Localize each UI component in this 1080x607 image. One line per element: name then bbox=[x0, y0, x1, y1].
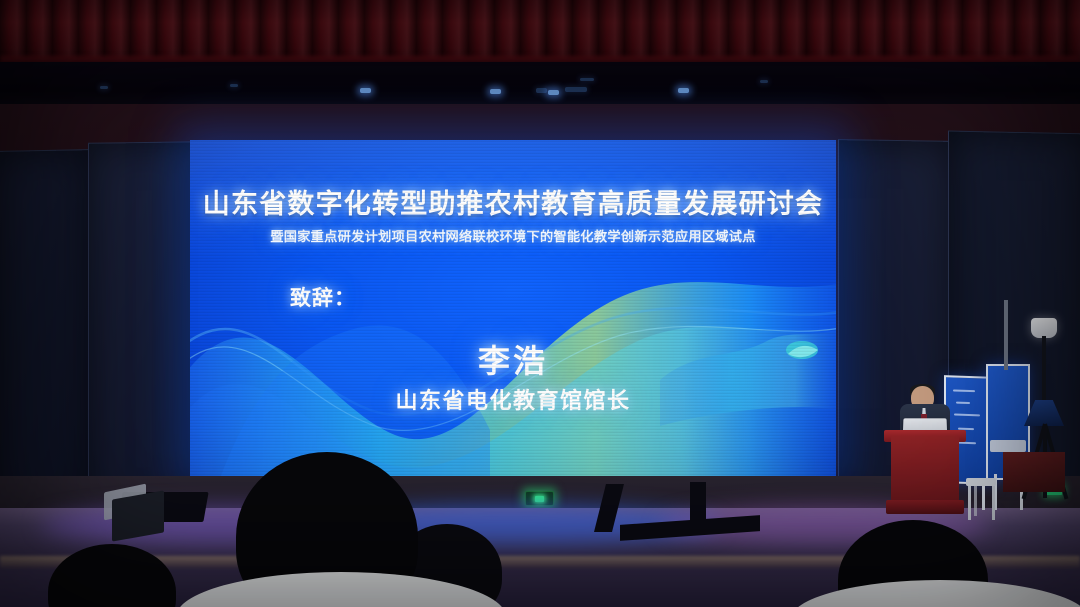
exit-sign-icon bbox=[525, 491, 554, 506]
beam-light bbox=[580, 78, 594, 81]
speaker-name: 李浩 bbox=[190, 336, 836, 382]
flip-chart-mast bbox=[1004, 300, 1008, 370]
stool-leg bbox=[974, 486, 977, 516]
stage-panel bbox=[88, 141, 200, 517]
side-table bbox=[1003, 452, 1065, 492]
led-presentation-screen: 山东省数字化转型助推农村教育高质量发展研讨会 暨国家重点研发计划项目农村网络联校… bbox=[190, 140, 836, 478]
beam-light bbox=[536, 88, 547, 93]
presentation-title: 山东省数字化转型助推农村教育高质量发展研讨会 bbox=[190, 182, 836, 221]
stool-leg bbox=[992, 486, 995, 520]
beam-light bbox=[760, 80, 768, 83]
beam-light bbox=[678, 88, 689, 93]
podium-base bbox=[886, 500, 964, 514]
beam-light bbox=[548, 90, 559, 95]
beam-light bbox=[490, 89, 501, 94]
stool bbox=[966, 478, 996, 486]
equipment-case bbox=[990, 440, 1026, 452]
screen-text-block: 山东省数字化转型助推农村教育高质量发展研讨会 暨国家重点研发计划项目农村网络联校… bbox=[190, 140, 836, 478]
speaker-role: 山东省电化教育馆馆长 bbox=[190, 383, 836, 415]
beam-light bbox=[100, 86, 108, 89]
presentation-subtitle: 暨国家重点研发计划项目农村网络联校环境下的智能化教学创新示范应用区域试点 bbox=[190, 226, 836, 245]
stage-panel bbox=[0, 149, 92, 513]
beam-light bbox=[230, 84, 238, 87]
tripod-pole bbox=[1042, 336, 1046, 402]
light-fixture-icon bbox=[1031, 318, 1057, 338]
conference-photo-scene: 山东省数字化转型助推农村教育高质量发展研讨会 暨国家重点研发计划项目农村网络联校… bbox=[0, 0, 1080, 607]
beam-light bbox=[360, 88, 371, 93]
beam-light bbox=[565, 87, 587, 92]
stool-leg bbox=[968, 486, 971, 520]
ceiling-beam bbox=[0, 62, 1080, 110]
greeting-label: 致辞： bbox=[290, 282, 356, 312]
stage-curtain bbox=[0, 0, 1080, 64]
